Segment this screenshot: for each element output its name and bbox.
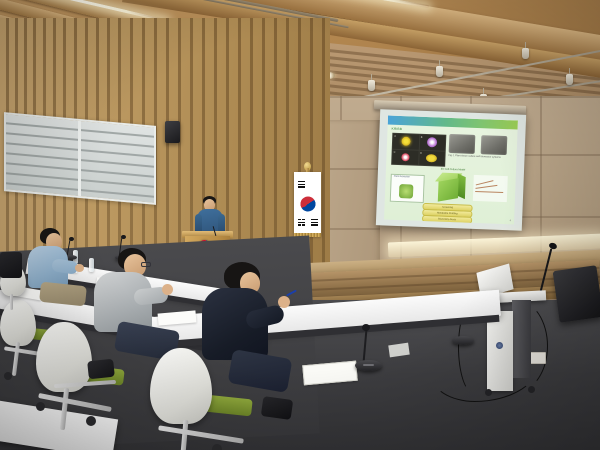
- lectern-column: [512, 300, 531, 378]
- blue-pen: [286, 290, 297, 297]
- slide-page-number: 4: [510, 219, 512, 222]
- cube-diagram: [432, 171, 469, 202]
- lectern-logo: [496, 342, 503, 349]
- photo-panel-b: B: [419, 135, 445, 150]
- lectern-front-panel: [487, 311, 513, 391]
- floor-bag-2: [0, 252, 22, 278]
- slide-button-3: Bioactivity Assay: [422, 215, 472, 224]
- panel-label-c: C: [394, 150, 396, 153]
- projection-screen: KRIBB A B C D: [376, 109, 526, 231]
- slide-photo-grid: A B C D: [391, 133, 446, 167]
- slide-title: KRIBB: [391, 127, 402, 131]
- slide-left-image-box: Plant Extraction: [390, 174, 425, 203]
- south-korea-flag: [294, 172, 321, 236]
- attendee-2-hand: [162, 284, 173, 295]
- slide-graph-box: [473, 175, 508, 202]
- floor-power-outlet: [530, 352, 546, 364]
- slide-header-band: [388, 116, 518, 130]
- attendee-2-glasses: [141, 262, 151, 267]
- presentation-slide: KRIBB A B C D: [384, 116, 518, 225]
- taeguk-symbol: [297, 194, 318, 215]
- chair-middle-left: [36, 322, 134, 434]
- conference-hall-photo: KRIBB A B C D: [0, 0, 600, 450]
- panel-label-d: D: [420, 151, 422, 154]
- left-box-label: Plant Extraction: [394, 176, 410, 179]
- panel-label-a: A: [394, 135, 396, 138]
- equipment-photo-2: [481, 135, 508, 155]
- louvered-window: [4, 112, 156, 205]
- chair-front-center: [150, 348, 270, 450]
- floor-standing-speaker: [553, 265, 600, 323]
- floor-bag-3: [261, 396, 293, 420]
- lectern-caster-right: [528, 386, 535, 393]
- attendee-1-hand: [75, 264, 84, 272]
- floor-bag-1: [87, 359, 115, 380]
- panel-label-b: B: [421, 136, 423, 139]
- wall-mounted-speaker: [165, 121, 180, 143]
- photo-panel-c: C: [392, 149, 418, 164]
- equipment-photo-1: [449, 134, 476, 154]
- photo-panel-d: D: [419, 150, 445, 165]
- photo-panel-a: A: [393, 134, 419, 149]
- attendee-3-hand: [278, 296, 290, 308]
